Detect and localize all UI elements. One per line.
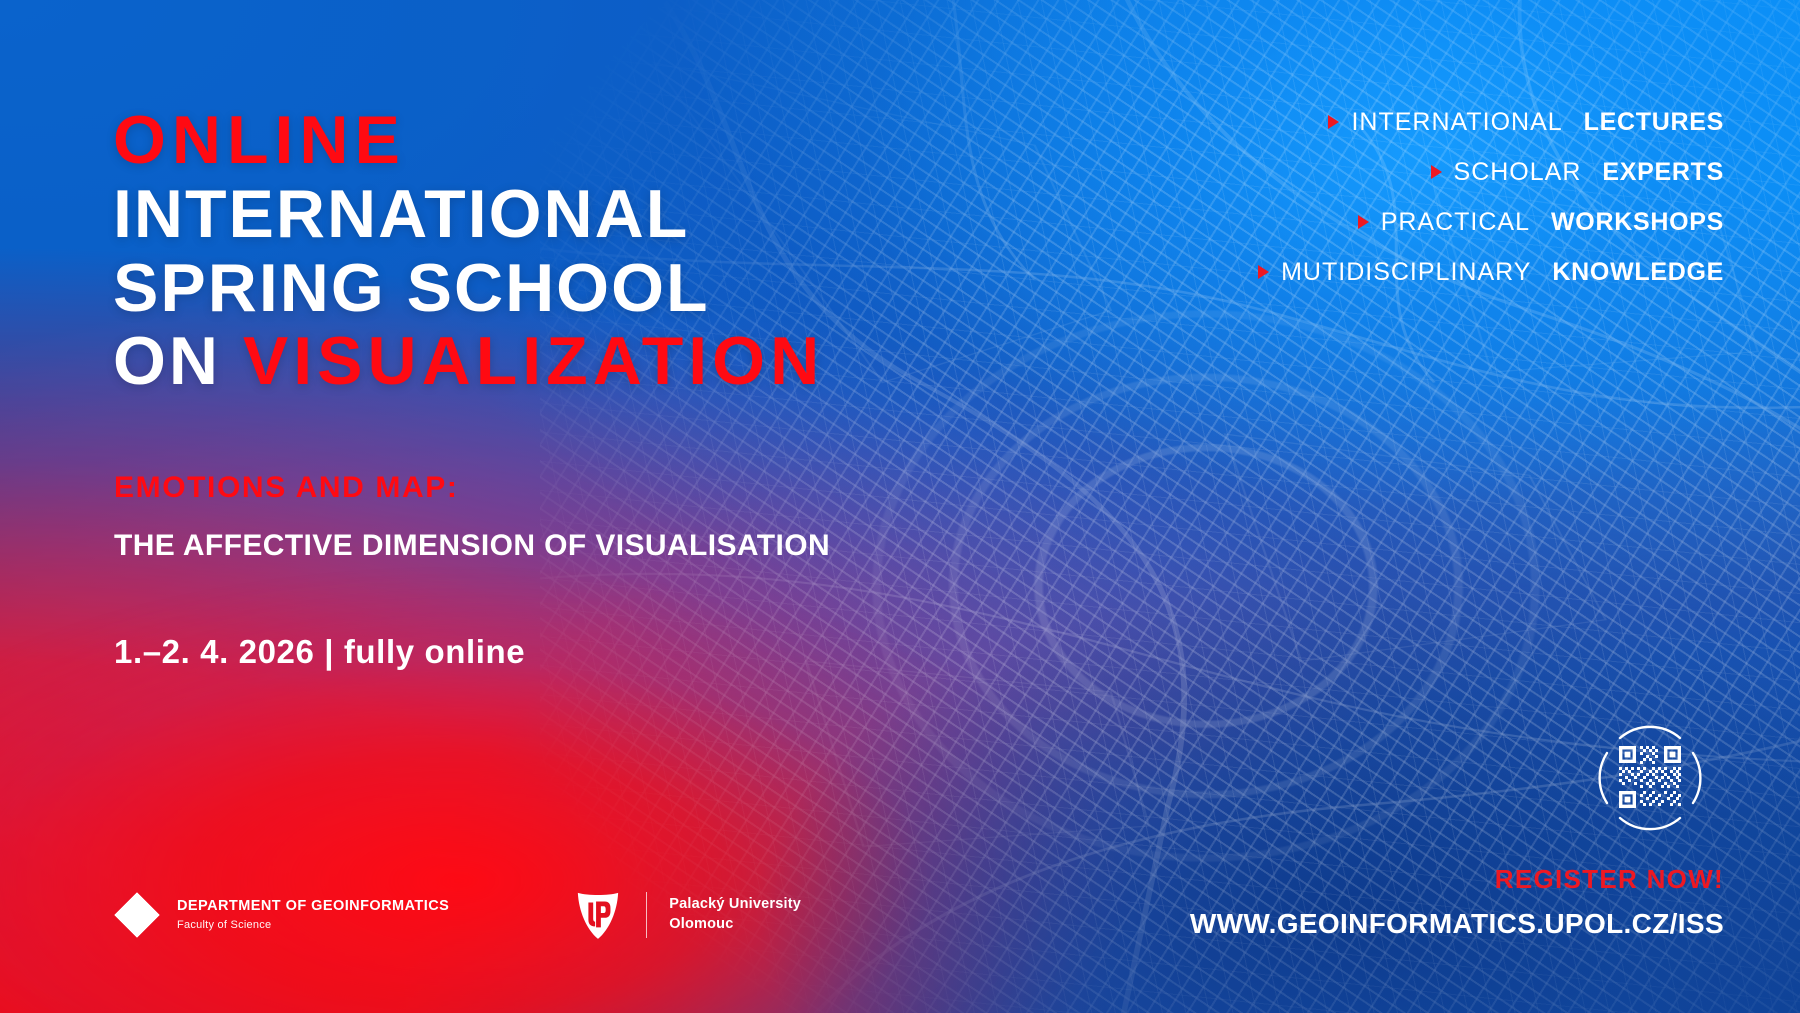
subtitle-block: EMOTIONS AND MAP: THE AFFECTIVE DIMENSIO… bbox=[114, 470, 1014, 564]
scan-bracket-icon bbox=[1600, 727, 1701, 829]
bullet-label-light: MUTIDISCIPLINARY bbox=[1281, 258, 1531, 287]
university-logo-text: Palacký University Olomouc bbox=[669, 895, 801, 934]
headline-line-online: ONLINE bbox=[113, 104, 953, 178]
faculty-name: Faculty of Science bbox=[177, 918, 449, 932]
geoinformatics-logo-text: DEPARTMENT OF GEOINFORMATICS Faculty of … bbox=[177, 897, 449, 932]
headline-line-international: INTERNATIONAL bbox=[113, 178, 953, 252]
logo-row: DEPARTMENT OF GEOINFORMATICS Faculty of … bbox=[113, 889, 801, 941]
poster-canvas: ONLINE INTERNATIONAL SPRING SCHOOL ON VI… bbox=[0, 0, 1800, 1013]
bullet-label-bold: EXPERTS bbox=[1602, 158, 1724, 187]
headline: ONLINE INTERNATIONAL SPRING SCHOOL ON VI… bbox=[113, 104, 953, 399]
list-item: SCHOLAR EXPERTS bbox=[1431, 158, 1724, 187]
headline-word-visualization: VISUALIZATION bbox=[243, 323, 824, 399]
call-to-action: REGISTER NOW! WWW.GEOINFORMATICS.UPOL.CZ… bbox=[1190, 864, 1724, 941]
headline-word-online: ONLINE bbox=[113, 102, 406, 178]
bullet-label-light: PRACTICAL bbox=[1381, 208, 1530, 237]
registration-url-link[interactable]: WWW.GEOINFORMATICS.UPOL.CZ/ISS bbox=[1190, 907, 1724, 941]
logo-department-of-geoinformatics: DEPARTMENT OF GEOINFORMATICS Faculty of … bbox=[113, 891, 449, 939]
list-item: PRACTICAL WORKSHOPS bbox=[1358, 208, 1724, 237]
subtitle-detail-line: THE AFFECTIVE DIMENSION OF VISUALISATION bbox=[114, 528, 1014, 564]
bullet-label-bold: WORKSHOPS bbox=[1551, 208, 1724, 237]
bullet-label-light: SCHOLAR bbox=[1454, 158, 1582, 187]
university-name: Palacký University bbox=[669, 895, 801, 915]
logo-divider bbox=[646, 892, 647, 938]
triangle-right-icon bbox=[1431, 165, 1442, 179]
feature-bullet-list: INTERNATIONAL LECTURES SCHOLAR EXPERTS P… bbox=[1104, 108, 1724, 287]
bullet-label-bold: LECTURES bbox=[1584, 108, 1724, 137]
triangle-right-icon bbox=[1258, 265, 1269, 279]
subtitle-theme-line: EMOTIONS AND MAP: bbox=[114, 470, 1014, 506]
palacky-university-shield-icon bbox=[574, 889, 622, 941]
bullet-label-bold: KNOWLEDGE bbox=[1552, 258, 1724, 287]
bullet-label-light: INTERNATIONAL bbox=[1351, 108, 1562, 137]
geoinformatics-diamond-g-icon bbox=[113, 891, 161, 939]
department-name: DEPARTMENT OF GEOINFORMATICS bbox=[177, 897, 449, 915]
list-item: MUTIDISCIPLINARY KNOWLEDGE bbox=[1258, 258, 1724, 287]
register-now-label: REGISTER NOW! bbox=[1190, 864, 1724, 895]
triangle-right-icon bbox=[1358, 215, 1369, 229]
university-city: Olomouc bbox=[669, 915, 801, 935]
headline-line-spring-school: SPRING SCHOOL bbox=[113, 252, 953, 326]
triangle-right-icon bbox=[1328, 115, 1339, 129]
headline-word-on: ON bbox=[113, 323, 243, 399]
qr-code-icon[interactable] bbox=[1590, 724, 1710, 832]
list-item: INTERNATIONAL LECTURES bbox=[1328, 108, 1724, 137]
logo-palacky-university: Palacký University Olomouc bbox=[574, 889, 801, 941]
event-date-and-format: 1.–2. 4. 2026 | fully online bbox=[114, 633, 525, 671]
headline-line-on-visualization: ON VISUALIZATION bbox=[113, 325, 953, 399]
